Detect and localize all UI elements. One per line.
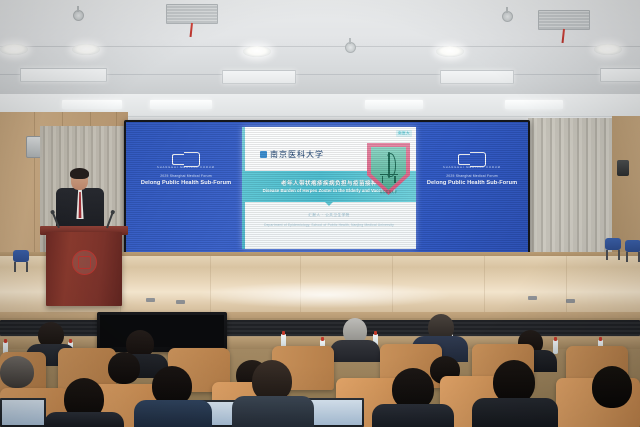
soffit-light [365,100,423,109]
speaker-podium [46,232,122,306]
ceiling-vent [166,4,218,24]
presenter-confidence-monitor [97,312,227,352]
stage-chair [624,240,640,262]
ceiling-panel-light [600,68,640,82]
stage-curtain-right [528,118,614,270]
led-display-screen: SHANGHAI MEDICAL FORUM 2025 Shanghai Med… [124,120,530,257]
stage-chair [12,250,30,272]
led-scanline-overlay [126,122,528,255]
auditorium-photo: SHANGHAI MEDICAL FORUM 2025 Shanghai Med… [0,0,640,427]
ceiling-downlight [243,46,271,57]
laptop[interactable] [306,398,364,427]
soffit-light [505,100,563,109]
audience-shoulders [134,400,212,427]
laptop[interactable] [0,398,46,427]
audience-shoulders [44,412,124,427]
ceiling-panel-light [440,70,514,84]
floor-socket [566,299,575,303]
sprinkler-icon [502,11,513,22]
ceiling-downlight [72,44,100,55]
desk-panel-back [0,320,640,336]
institution-seal-icon [72,250,97,275]
wall-speaker-icon [617,160,629,176]
audience-shoulders [372,404,454,427]
floor-socket [146,298,155,302]
ceiling-downlight [0,44,28,55]
ceiling-vent [538,10,590,30]
water-bottle [553,340,558,354]
sprinkler-icon [73,10,84,21]
audience-shoulders [330,340,380,362]
led-screen-surface: SHANGHAI MEDICAL FORUM 2025 Shanghai Med… [126,122,528,255]
audience-head [592,366,632,408]
stage-floor-reflection [200,282,450,308]
ceiling-panel-light [20,68,107,82]
floor-socket [528,296,537,300]
stage-chair [604,238,622,260]
ceiling-downlight [436,46,464,57]
soffit-light [62,100,122,109]
audience-shoulders [232,396,314,427]
smoke-detector-icon [345,42,356,53]
audience-shoulders [472,398,558,427]
ceiling-downlight [594,44,622,55]
presenter-hair [70,168,89,179]
ceiling-panel-light [222,70,296,84]
audience-head [108,352,140,384]
soffit-light [150,100,212,109]
ceiling [0,0,640,96]
audience-head [0,356,34,388]
floor-socket [176,300,185,304]
